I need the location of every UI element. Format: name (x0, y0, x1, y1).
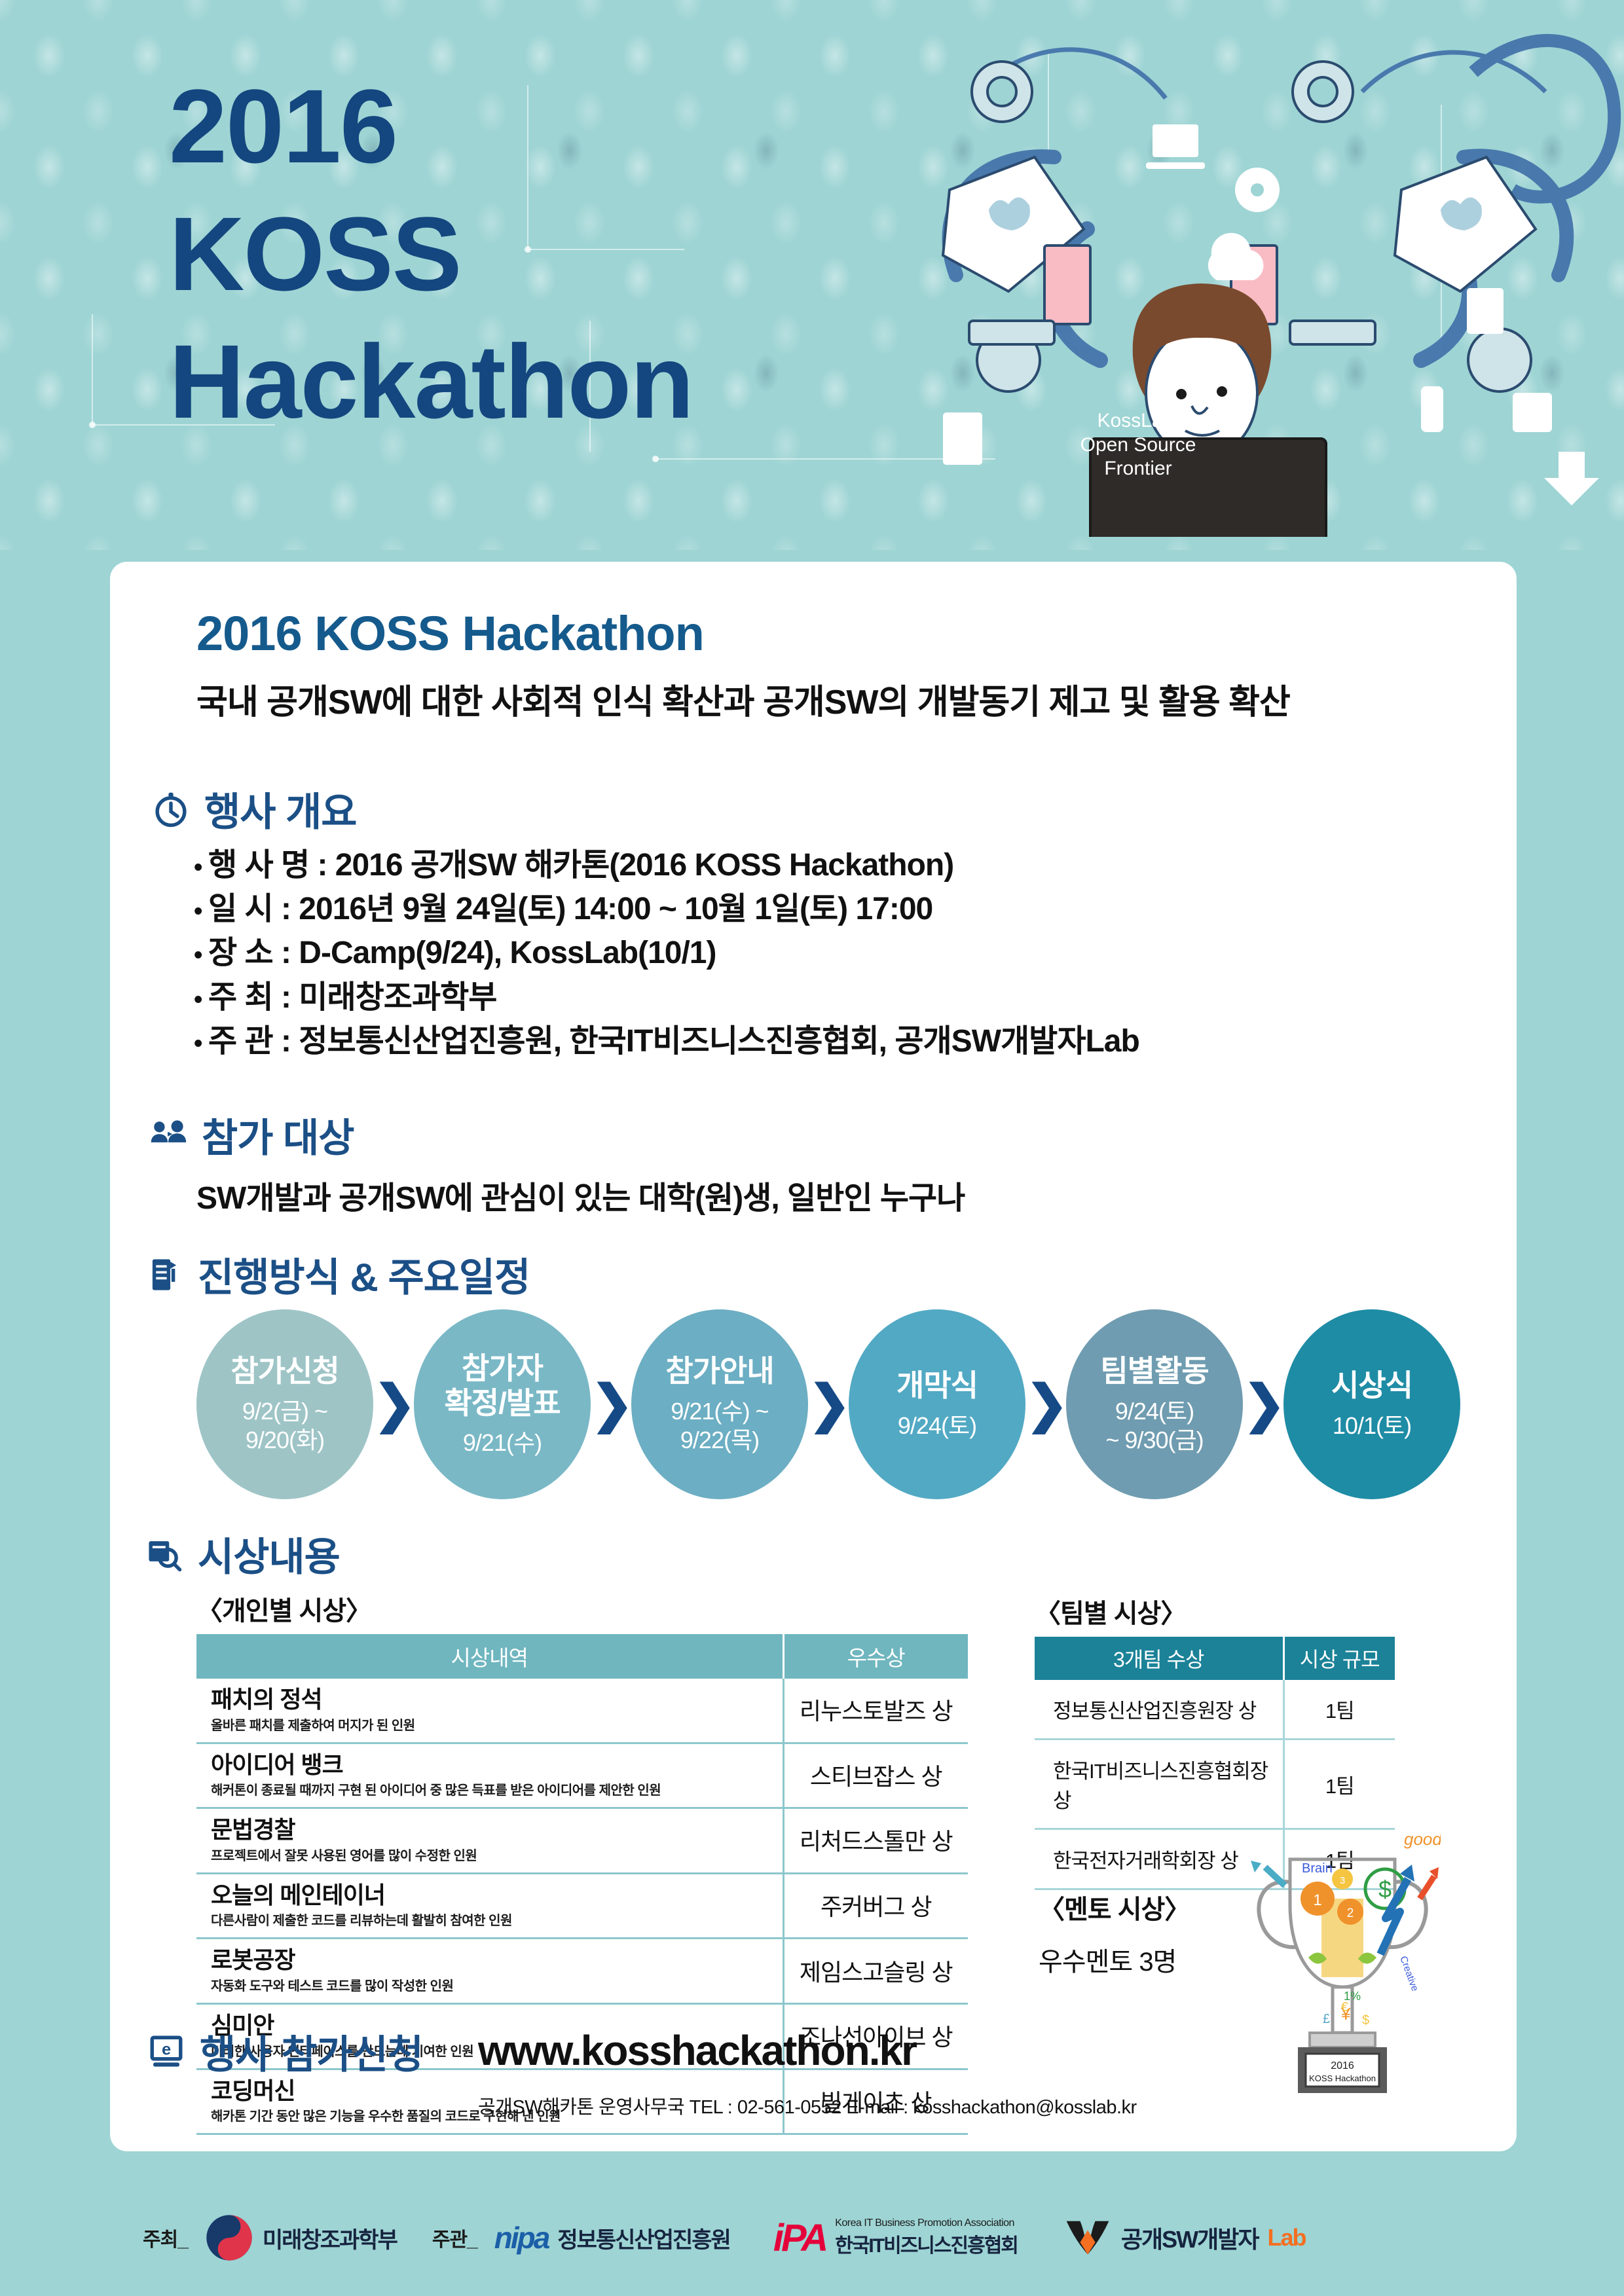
title-line-3: Hackathon (169, 318, 693, 445)
network-node (652, 456, 659, 462)
trophy-plaque-year: 2016 (1331, 2060, 1354, 2071)
flow-step-2: 참가안내 9/21(수) ~9/22(목) (631, 1309, 808, 1499)
overview-item-0: 행 사 명 : 2016 공개SW 해카톤(2016 KOSS Hackatho… (208, 843, 953, 887)
table-row: 문법경찰프로젝트에서 잘못 사용된 영어를 많이 수정한 인원리처드스톨만 상 (196, 1808, 968, 1874)
ipa-wordmark: iPA (773, 2216, 826, 2260)
nipa-name: 정보통신산업진흥원 (557, 2222, 730, 2254)
svg-text:2: 2 (1347, 1906, 1354, 1920)
flow-arrow-icon: ❯ (373, 1379, 414, 1430)
flow-step-date: 9/21(수) (463, 1429, 542, 1457)
flow-step-title: 개막식 (896, 1368, 978, 1403)
section-header-schedule: 진행방식 & 주요일정 (145, 1246, 530, 1303)
host-label: 주최_ (143, 2223, 188, 2252)
award-description: 프로젝트에서 잘못 사용된 영어를 많이 수정한 인원 (211, 1849, 783, 1863)
apply-contact: 공개SW해카톤 운영사무국 TEL : 02-561-0552 E-mail :… (478, 2092, 1137, 2119)
award-prize-cell: 리처드스톨만 상 (783, 1808, 968, 1874)
trophy-plaque-title: KOSS Hackathon (1309, 2073, 1376, 2083)
search-doc-icon (145, 1535, 183, 1573)
award-detail-cell: 패치의 정석올바른 패치를 제출하여 머지가 된 인원 (196, 1679, 783, 1743)
table-row: 오늘의 메인테이너다른사람이 제출한 코드를 리뷰하는데 활발히 참여한 인원주… (196, 1873, 968, 1939)
svg-text:$: $ (1378, 1876, 1392, 1903)
list-item: 주 관 : 정보통신산업진흥원, 한국IT비즈니스진흥협회, 공개SW개발자La… (194, 1019, 1139, 1063)
title-line-2: KOSS (169, 190, 693, 318)
award-description: 자동화 도구와 테스트 코드를 많이 작성한 인원 (211, 1979, 783, 1994)
table-row: 로봇공장자동화 도구와 테스트 코드를 많이 작성한 인원제임스고슬링 상 (196, 1939, 968, 2004)
flow-step-1: 참가자확정/발표 9/21(수) (414, 1309, 591, 1499)
award-name: 로봇공장 (211, 1947, 783, 1973)
laptop-screen-caption: KossLab,Open SourceFrontier (1053, 409, 1223, 481)
mentor-awards-value: 우수멘토 3명 (1039, 1941, 1190, 1978)
flow-arrow-icon: ❯ (808, 1379, 849, 1430)
audience-text: SW개발과 공개SW에 관심이 있는 대학(원)생, 일반인 누구나 (196, 1172, 965, 1218)
flow-step-5: 시상식 10/1(토) (1283, 1309, 1460, 1499)
logo-ipa: iPA Korea IT Business Promotion Associat… (773, 2216, 1018, 2260)
kosslab-name: 공개SW개발자 (1121, 2221, 1259, 2255)
ipa-english-name: Korea IT Business Promotion Association (835, 2217, 1018, 2229)
overview-item-3: 주 최 : 미래창조과학부 (208, 975, 496, 1019)
award-detail-cell: 아이디어 뱅크해커톤이 종료될 때까지 구현 된 아이디어 중 많은 득표를 받… (196, 1743, 783, 1808)
award-prize: 스티브잡스 상 (784, 1758, 969, 1792)
ipa-korean-name: 한국IT비즈니스진흥협회 (835, 2229, 1018, 2258)
poster-title: 2016 KOSS Hackathon (169, 62, 693, 446)
award-name: 패치의 정석 (211, 1686, 783, 1713)
nipa-wordmark: nipa (494, 2220, 549, 2255)
table-row: 한국IT비즈니스진흥협회장 상1팀 (1035, 1740, 1395, 1829)
table-header-row: 시상내역 우수상 (196, 1634, 968, 1679)
organizer-label: 주관_ (432, 2223, 477, 2252)
team-award-name: 정보통신산업진흥원장 상 (1035, 1680, 1283, 1740)
table-row: 정보통신산업진흥원장 상1팀 (1035, 1680, 1395, 1740)
award-detail-cell: 오늘의 메인테이너다른사람이 제출한 코드를 리뷰하는데 활발히 참여한 인원 (196, 1873, 783, 1939)
trophy-illustration: 2016 KOSS Hackathon 1 2 3 $ Brain Creati… (1244, 1820, 1441, 2108)
flow-step-title: 팀별활동 (1100, 1354, 1208, 1389)
svg-text:$: $ (1362, 2013, 1369, 2028)
flow-arrow-icon: ❯ (1025, 1379, 1066, 1430)
award-description: 올바른 패치를 제출하여 머지가 된 인원 (211, 1719, 783, 1733)
flow-step-date: 9/24(토) (898, 1412, 976, 1440)
logo-nipa: nipa 정보통신산업진흥원 (494, 2220, 730, 2255)
svg-text:£: £ (1323, 2012, 1330, 2026)
flow-arrow-icon: ❯ (591, 1379, 631, 1430)
logo-kosslab: 공개SW개발자 Lab (1063, 2214, 1306, 2262)
list-item: 주 최 : 미래창조과학부 (194, 975, 1139, 1019)
column-header-team: 3개팀 수상 (1035, 1637, 1283, 1680)
award-detail-cell: 문법경찰프로젝트에서 잘못 사용된 영어를 많이 수정한 인원 (196, 1808, 783, 1874)
team-award-size: 1팀 (1283, 1680, 1395, 1740)
svg-text:3: 3 (1340, 1875, 1345, 1886)
logo-msit: 미래창조과학부 (205, 2214, 397, 2262)
trophy-creative-label: Creative (1397, 1955, 1420, 1993)
section-label: 행사 개요 (204, 780, 356, 837)
overview-list: 행 사 명 : 2016 공개SW 해카톤(2016 KOSS Hackatho… (194, 843, 1139, 1063)
section-header-awards: 시상내용 (145, 1525, 340, 1582)
hero-illustration (904, 0, 1624, 537)
flow-step-date: 9/21(수) ~9/22(목) (671, 1397, 768, 1455)
korea-government-icon (205, 2214, 253, 2262)
flow-step-4: 팀별활동 9/24(토)~ 9/30(금) (1066, 1309, 1243, 1499)
award-description: 다른사람이 제출한 코드를 리뷰하는데 활발히 참여한 인원 (211, 1914, 783, 1928)
award-prize-cell: 제임스고슬링 상 (783, 1939, 968, 2004)
sponsor-footer: 주최_ 미래창조과학부 주관_ nipa 정보통신산업진흥원 iPA Korea… (0, 2179, 1624, 2296)
section-label: 행사 참가신청 (200, 2023, 423, 2080)
people-icon (149, 1116, 187, 1154)
award-detail-cell: 로봇공장자동화 도구와 테스트 코드를 많이 작성한 인원 (196, 1939, 783, 2004)
section-header-apply[interactable]: e 행사 참가신청 (147, 2023, 423, 2080)
section-header-overview: 행사 개요 (152, 780, 356, 837)
award-prize: 리누스토발즈 상 (784, 1692, 969, 1726)
award-name: 문법경찰 (211, 1817, 783, 1843)
award-prize: 제임스고슬링 상 (784, 1954, 969, 1988)
mentor-awards-caption: 〈멘토 시상〉 (1039, 1888, 1190, 1926)
mentor-awards: 〈멘토 시상〉 우수멘토 3명 (1039, 1888, 1190, 1978)
svg-text:e: e (162, 2040, 171, 2058)
network-line (92, 314, 93, 426)
flow-step-title: 시상식 (1331, 1368, 1412, 1403)
column-header-scale: 시상 규모 (1283, 1637, 1395, 1680)
schedule-flow: 참가신청 9/2(금) ~9/20(화) ❯ 참가자확정/발표 9/21(수) … (196, 1309, 1467, 1499)
team-award-name: 한국IT비즈니스진흥협회장 상 (1035, 1740, 1283, 1829)
overview-item-2: 장 소 : D-Camp(9/24), KossLab(10/1) (208, 931, 716, 975)
trophy-brain-label: Brain (1302, 1861, 1333, 1876)
title-line-1: 2016 (169, 62, 693, 190)
flow-step-0: 참가신청 9/2(금) ~9/20(화) (196, 1309, 373, 1499)
column-header-detail: 시상내역 (196, 1634, 783, 1679)
list-item: 행 사 명 : 2016 공개SW 해카톤(2016 KOSS Hackatho… (194, 843, 1139, 887)
network-node (89, 422, 96, 428)
page-title: 2016 KOSS Hackathon (196, 606, 704, 661)
owl-wings-icon (1063, 2214, 1112, 2262)
award-prize-cell: 리누스토발즈 상 (783, 1679, 968, 1743)
flow-step-date: 10/1(토) (1333, 1412, 1411, 1440)
team-award-size: 1팀 (1283, 1740, 1395, 1829)
flow-step-title: 참가안내 (665, 1354, 773, 1389)
flow-step-title: 참가자확정/발표 (444, 1351, 560, 1421)
host-name: 미래창조과학부 (263, 2222, 397, 2254)
flow-step-date: 9/24(토)~ 9/30(금) (1105, 1397, 1203, 1455)
svg-text:€: € (1341, 2000, 1348, 2014)
list-item: 장 소 : D-Camp(9/24), KossLab(10/1) (194, 931, 1139, 975)
award-prize: 주커버그 상 (784, 1888, 969, 1922)
flow-arrow-icon: ❯ (1243, 1379, 1283, 1430)
poster-root: KossLab,Open SourceFrontier 2016 KOSS Ha… (0, 0, 1624, 2296)
section-header-audience: 참가 대상 (149, 1106, 354, 1163)
flow-step-title: 참가신청 (231, 1354, 339, 1389)
flow-step-3: 개막식 9/24(토) (849, 1309, 1025, 1499)
award-prize-cell: 주커버그 상 (783, 1873, 968, 1939)
document-icon (145, 1256, 183, 1294)
table-row: 패치의 정석올바른 패치를 제출하여 머지가 된 인원리누스토발즈 상 (196, 1679, 968, 1743)
award-description: 해커톤이 종료될 때까지 구현 된 아이디어 중 많은 득표를 받은 아이디어를… (211, 1783, 783, 1798)
team-awards-caption: 〈팀별 시상〉 (1035, 1592, 1186, 1630)
monitor-e-icon: e (147, 2033, 185, 2071)
section-label: 진행방식 & 주요일정 (198, 1246, 530, 1303)
overview-item-4: 주 관 : 정보통신산업진흥원, 한국IT비즈니스진흥협회, 공개SW개발자La… (208, 1019, 1139, 1063)
award-name: 아이디어 뱅크 (211, 1752, 783, 1778)
apply-url[interactable]: www.kosshackathon.kr (478, 2026, 916, 2075)
award-name: 오늘의 메인테이너 (211, 1882, 783, 1908)
award-prize-cell: 스티브잡스 상 (783, 1743, 968, 1808)
column-header-prize: 우수상 (783, 1634, 968, 1679)
section-label: 참가 대상 (202, 1106, 354, 1163)
award-prize: 리처드스톨만 상 (784, 1823, 969, 1857)
table-header-row: 3개팀 수상 시상 규모 (1035, 1637, 1395, 1680)
overview-item-1: 일 시 : 2016년 9월 24일(토) 14:00 ~ 10월 1일(토) … (208, 887, 932, 931)
flow-step-date: 9/2(금) ~9/20(화) (242, 1397, 327, 1455)
section-label: 시상내용 (198, 1525, 340, 1582)
clock-icon (152, 790, 190, 828)
table-row: 아이디어 뱅크해커톤이 종료될 때까지 구현 된 아이디어 중 많은 득표를 받… (196, 1743, 968, 1808)
kosslab-suffix: Lab (1268, 2224, 1306, 2251)
page-subtitle: 국내 공개SW에 대한 사회적 인식 확산과 공개SW의 개발동기 제고 및 활… (196, 674, 1290, 723)
list-item: 일 시 : 2016년 9월 24일(토) 14:00 ~ 10월 1일(토) … (194, 887, 1139, 931)
individual-awards-caption: 〈개인별 시상〉 (196, 1590, 371, 1628)
trophy-good-label: good! (1404, 1829, 1441, 1849)
svg-text:1: 1 (1313, 1891, 1321, 1909)
